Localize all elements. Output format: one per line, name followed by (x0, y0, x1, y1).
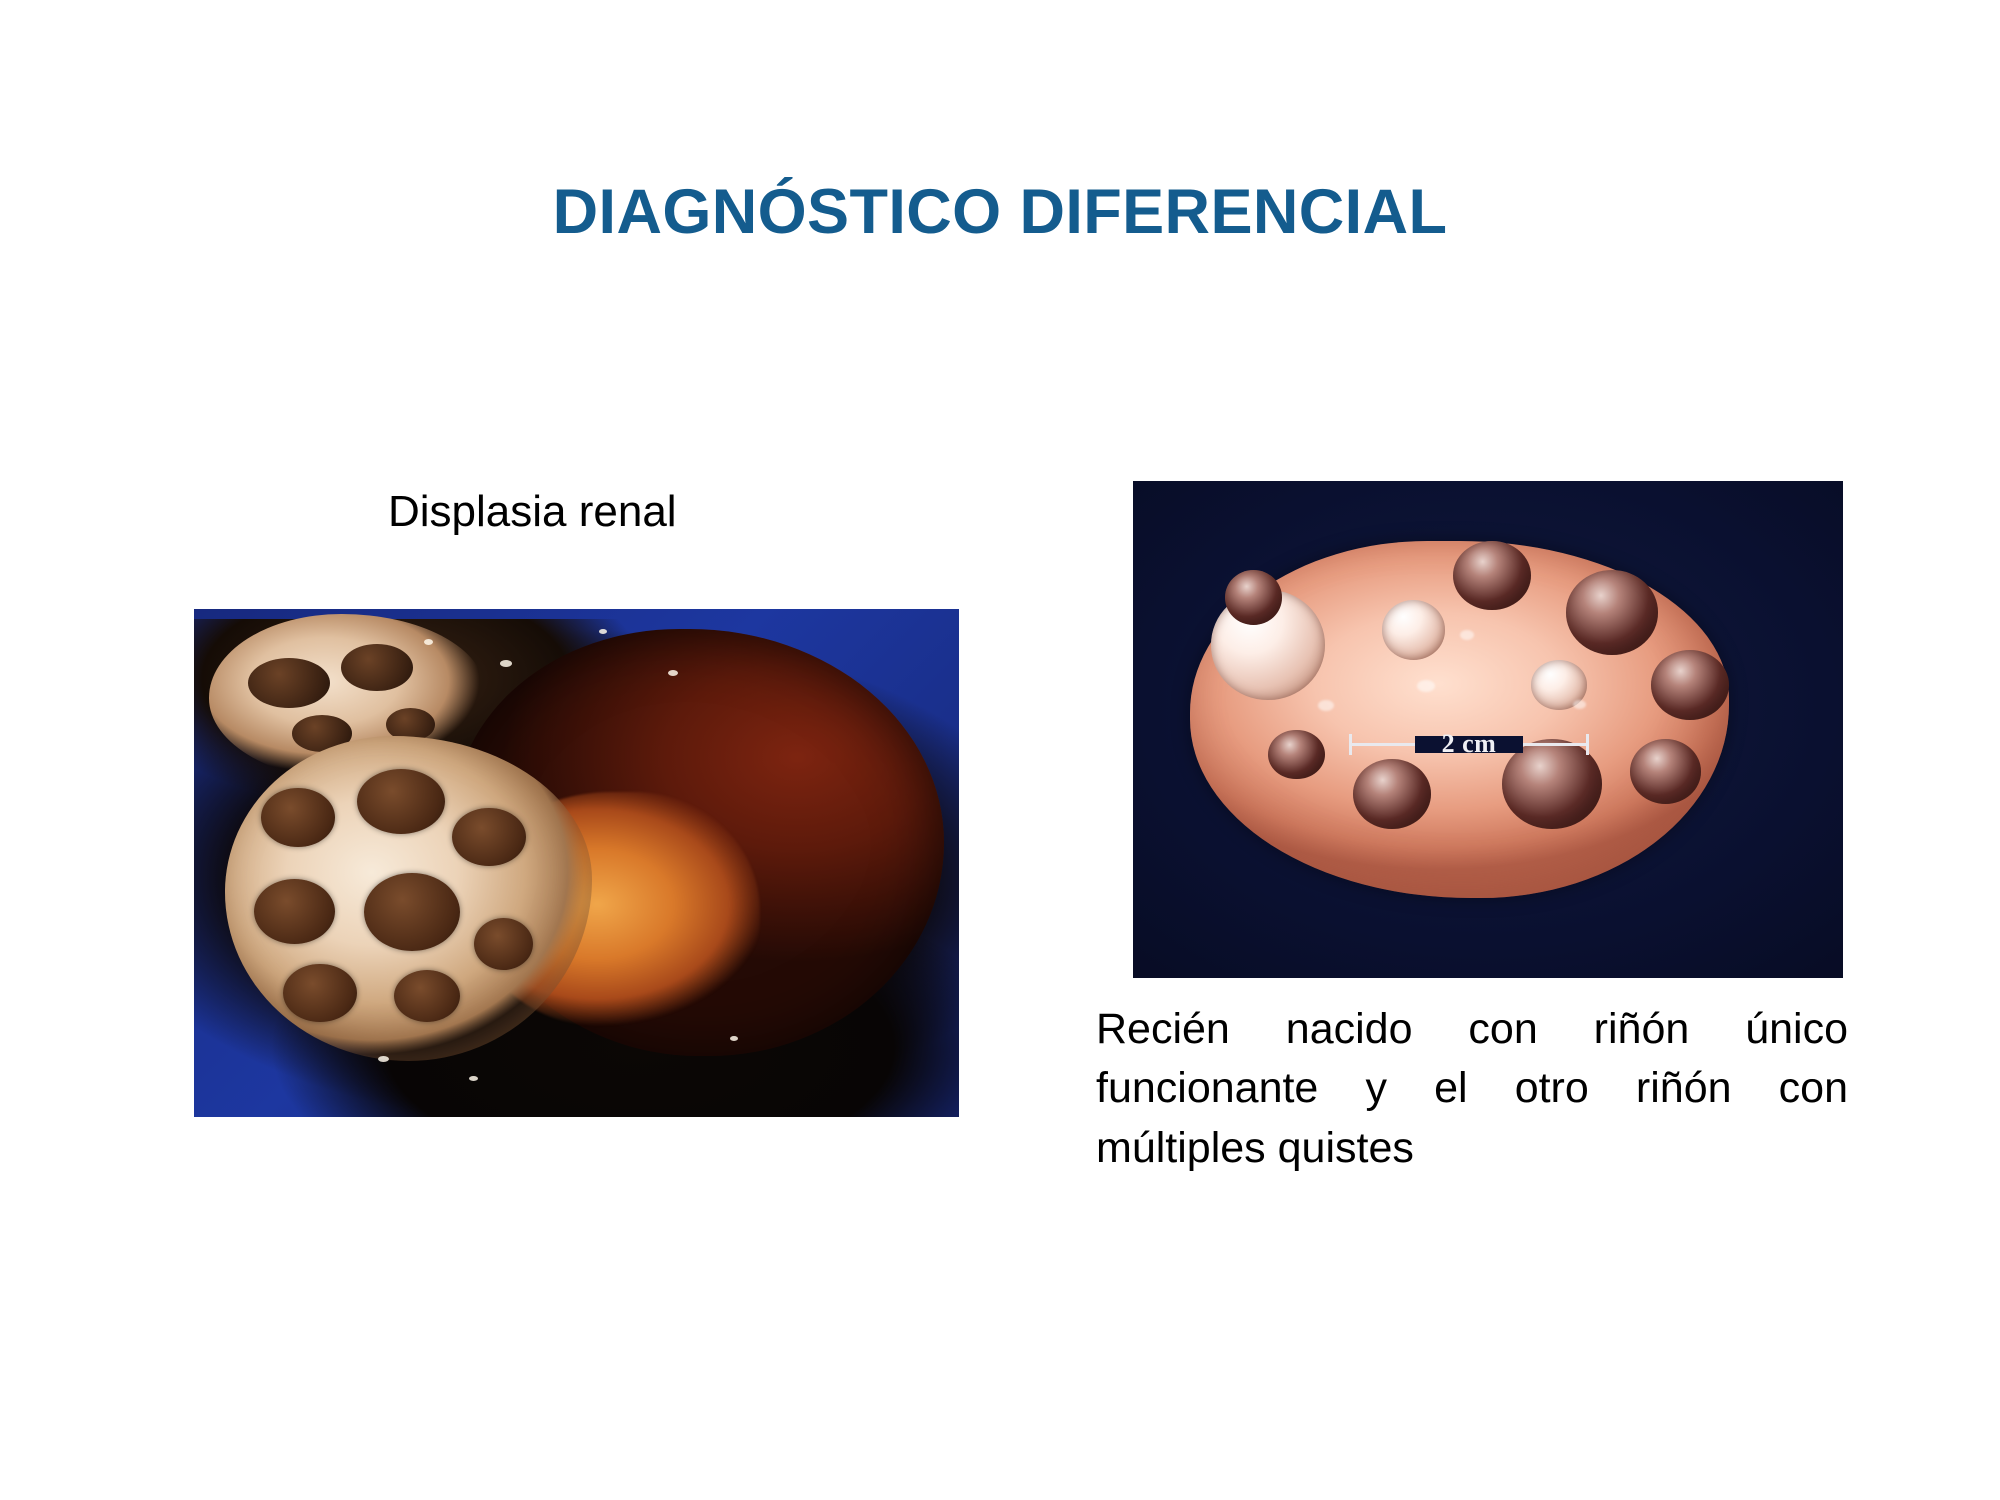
cyst-cavity (394, 970, 460, 1022)
cyst-cavity (261, 788, 334, 847)
scale-bar: 2 cm (1349, 726, 1589, 762)
slide-canvas: DIAGNÓSTICO DIFERENCIAL Displasia renal (0, 0, 2000, 1500)
cyst-cavity (1382, 600, 1446, 660)
multicystic-kidney-image: 2 cm (1133, 481, 1843, 978)
cyst-cavity (357, 769, 445, 834)
cyst-cavity (364, 873, 459, 951)
cyst-cavity (283, 964, 356, 1023)
cyst-cavity (1225, 570, 1282, 625)
cyst-cavity (341, 644, 413, 691)
cyst-cavity (1453, 541, 1531, 611)
cyst-cavity (1630, 739, 1701, 804)
cyst-cavity (1566, 570, 1658, 654)
right-figure-caption: Recién nacido con riñón único funcionant… (1096, 1000, 1848, 1178)
tissue-highlight (1417, 680, 1435, 692)
caption-line: Recién nacido con riñón único (1096, 1000, 1848, 1059)
left-figure-label: Displasia renal (388, 487, 677, 538)
cyst-cavity (248, 658, 331, 708)
cyst-cavity (452, 808, 525, 867)
caption-line: funcionante y el otro riñón con (1096, 1059, 1848, 1118)
cyst-cavity (474, 918, 533, 970)
cyst-cavity (1651, 650, 1729, 720)
tissue-highlight (730, 1036, 738, 1041)
cyst-cavity (254, 879, 335, 944)
tissue-highlight (1573, 700, 1586, 709)
renal-dysplasia-image (194, 609, 959, 1117)
cyst-cavity (1353, 759, 1431, 829)
scale-bar-label: 2 cm (1349, 726, 1589, 762)
tissue-highlight (500, 660, 512, 667)
caption-line: múltiples quistes (1096, 1119, 1848, 1178)
cyst-cavity (1268, 730, 1325, 780)
tissue-highlight (1318, 700, 1334, 711)
tissue-highlight (1460, 630, 1474, 640)
tissue-highlight (378, 1056, 389, 1062)
page-title: DIAGNÓSTICO DIFERENCIAL (0, 178, 2000, 247)
